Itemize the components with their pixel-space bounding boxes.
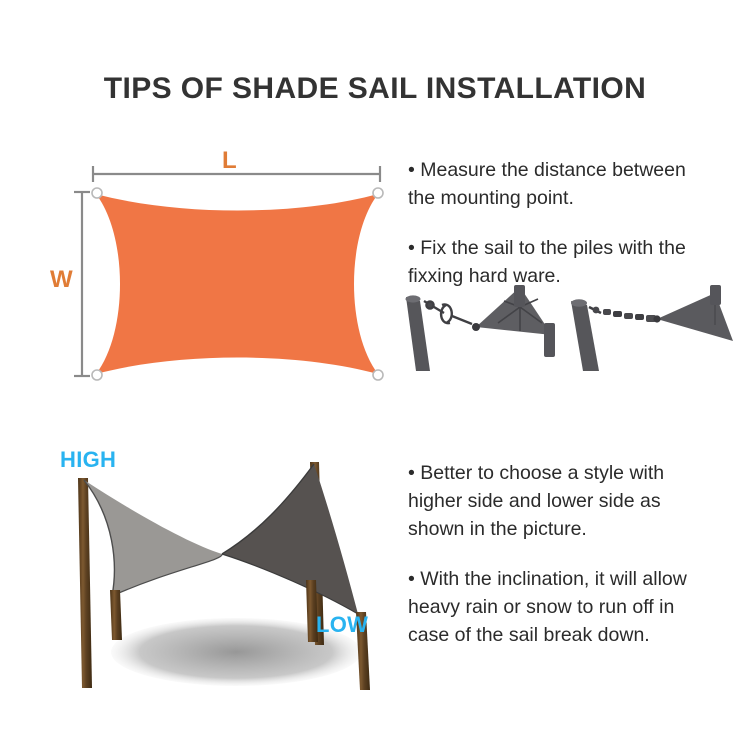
tip-line: shown in the picture.	[408, 515, 750, 543]
tip-item: • Better to choose a style with higher s…	[408, 459, 750, 543]
canopy-sail-light	[84, 480, 222, 596]
width-dimension-line	[74, 192, 90, 376]
hardware-left-svg	[400, 283, 580, 373]
post-front-left-high	[78, 478, 92, 688]
hardware-illustration-right	[565, 283, 750, 373]
tip-line: fixxing hard ware.	[408, 262, 750, 290]
canopy-sail-dark	[222, 464, 358, 614]
inclined-canopy-diagram	[40, 440, 430, 700]
rectangular-sail-diagram	[60, 140, 410, 400]
tip-line: • Measure the distance between	[408, 156, 750, 184]
orange-sail-shape	[96, 194, 378, 374]
tip-item: • With the inclination, it will allow he…	[408, 565, 750, 649]
tip-item: • Fix the sail to the piles with the fix…	[408, 234, 750, 290]
hardware-illustration-left	[400, 283, 580, 373]
infographic-page: TIPS OF SHADE SAIL INSTALLATION	[0, 0, 750, 750]
tips-text-block-top: • Measure the distance between the mount…	[408, 156, 750, 290]
page-title: TIPS OF SHADE SAIL INSTALLATION	[0, 72, 750, 106]
width-dimension-label: W	[50, 266, 73, 294]
sail-corner-plate	[472, 285, 555, 357]
tip-line: case of the sail break down.	[408, 621, 750, 649]
tip-line: heavy rain or snow to run off in	[408, 593, 750, 621]
hardware-right-svg	[565, 283, 750, 373]
post-front-left-low	[110, 590, 122, 640]
turnbuckle-icon	[424, 301, 472, 324]
length-dimension-label: L	[222, 147, 237, 175]
sail-corner-plate	[653, 285, 733, 341]
tip-item: • Measure the distance between the mount…	[408, 156, 750, 212]
chain-icon	[589, 307, 656, 322]
high-side-label: HIGH	[60, 447, 116, 473]
tip-line: • With the inclination, it will allow	[408, 565, 750, 593]
tip-line: • Fix the sail to the piles with the	[408, 234, 750, 262]
canopy-diagram-svg	[40, 440, 430, 700]
tip-line: • Better to choose a style with	[408, 459, 750, 487]
tip-line: higher side and lower side as	[408, 487, 750, 515]
low-side-label: LOW	[316, 612, 368, 638]
tip-line: the mounting point.	[408, 184, 750, 212]
tips-text-block-bottom: • Better to choose a style with higher s…	[408, 459, 750, 649]
sail-diagram-svg	[60, 140, 410, 400]
